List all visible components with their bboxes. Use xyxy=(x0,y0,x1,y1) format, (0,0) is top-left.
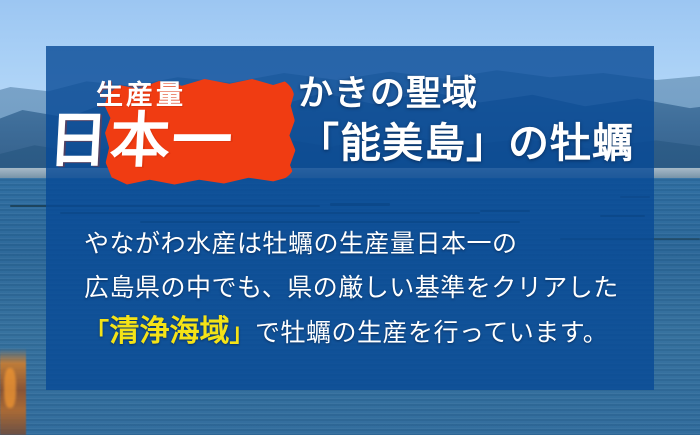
highlight-open-bracket: 「 xyxy=(84,318,110,347)
title-line-1: かきの聖域 xyxy=(298,72,654,116)
banner-header: 生産量 日本一 かきの聖域 「能美島」の牡蠣 xyxy=(46,74,654,194)
oyster-promo-banner: 生産量 日本一 かきの聖域 「能美島」の牡蠣 やながわ水産は牡蠣の生産量日本一の… xyxy=(0,0,700,435)
body-line-1: やながわ水産は牡蠣の生産量日本一の xyxy=(84,222,624,266)
body-line-3: 「清浄海域」で牡蠣の生産を行っています。 xyxy=(84,310,624,355)
stamp-bottom-label: 日本一 xyxy=(44,110,237,173)
title-line-2: 「能美島」の牡蠣 xyxy=(298,118,654,168)
highlight-close-bracket: 」 xyxy=(230,318,256,347)
body-line-3-rest: で牡蠣の生産を行っています。 xyxy=(255,318,608,347)
seijo-kaiiki-highlight: 清浄海域 xyxy=(110,314,230,349)
body-line-2: 広島県の中でも、県の厳しい基準をクリアした xyxy=(84,266,624,310)
shore-buoy-highlight xyxy=(4,368,16,408)
stamp-top-label: 生産量 xyxy=(46,82,236,109)
banner-body-copy: やながわ水産は牡蠣の生産量日本一の 広島県の中でも、県の厳しい基準をクリアした … xyxy=(84,222,624,355)
banner-title: かきの聖域 「能美島」の牡蠣 xyxy=(298,72,654,168)
